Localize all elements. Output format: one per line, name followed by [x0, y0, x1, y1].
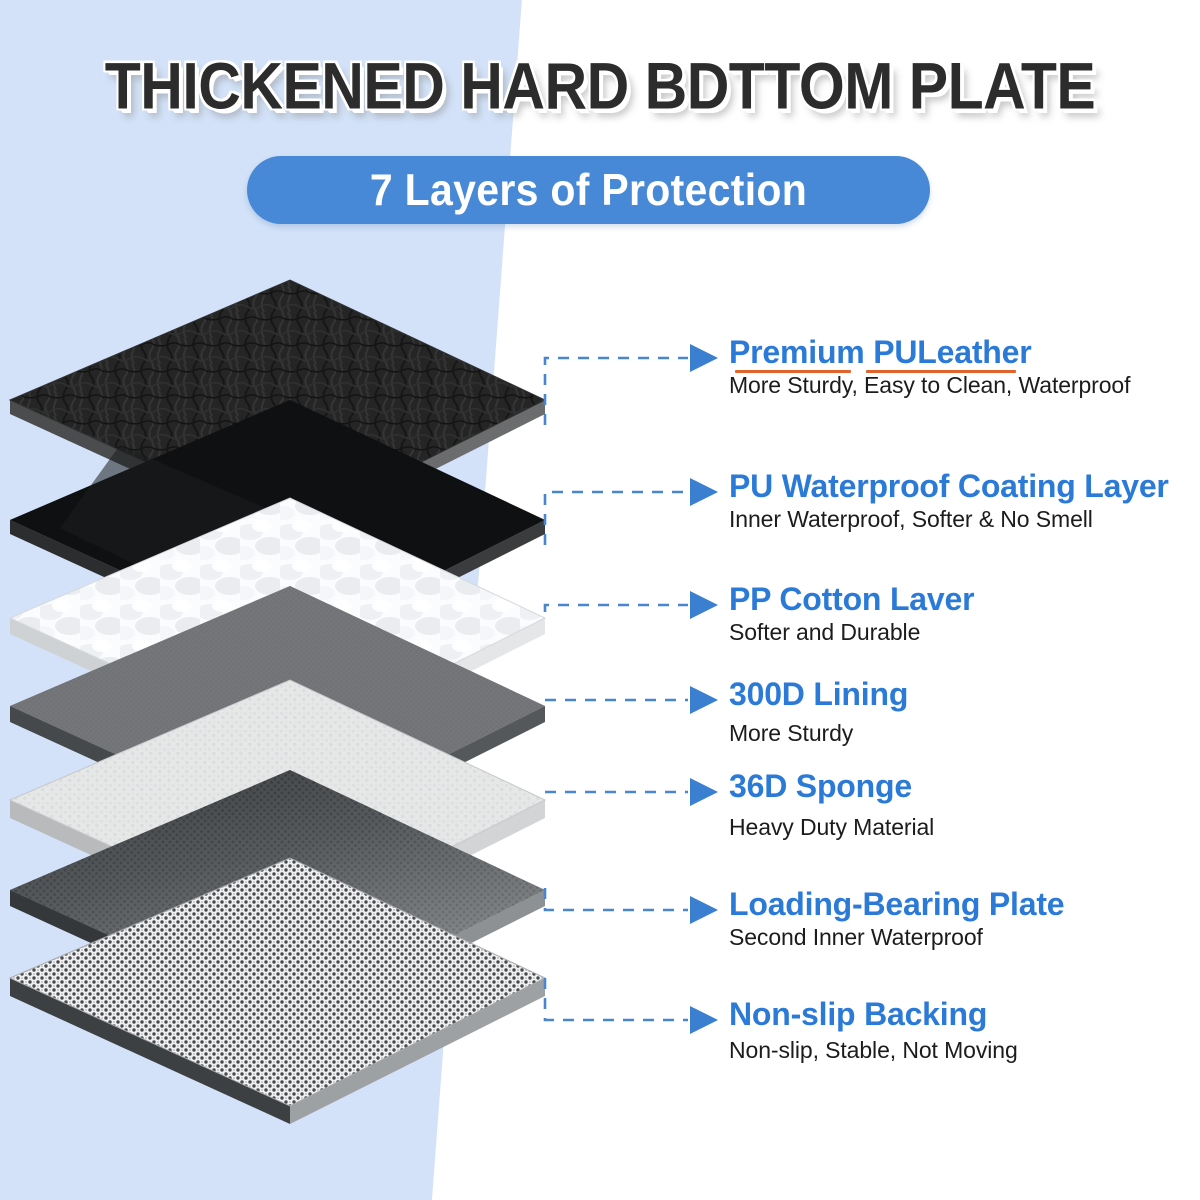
- callout-1: Premium PULeather More Sturdy, Easy to C…: [729, 336, 1130, 398]
- callout-3: PP Cotton Laver Softer and Durable: [729, 583, 974, 645]
- callout-3-subtitle: Softer and Durable: [729, 619, 974, 645]
- callout-labels: Premium PULeather More Sturdy, Easy to C…: [0, 0, 1200, 1200]
- callout-6-title: Loading-Bearing Plate: [729, 888, 1064, 922]
- callout-7: Non-slip Backing Non-slip, Stable, Not M…: [729, 998, 1018, 1063]
- callout-4-subtitle: More Sturdy: [729, 720, 908, 746]
- callout-6: Loading-Bearing Plate Second Inner Water…: [729, 888, 1064, 950]
- callout-5: 36D Sponge Heavy Duty Material: [729, 770, 934, 840]
- callout-2: PU Waterproof Coating Layer Inner Waterp…: [729, 470, 1169, 532]
- callout-5-title: 36D Sponge: [729, 770, 934, 804]
- spellcheck-underline-icon: [866, 370, 1016, 373]
- infographic-stage: THICKENED HARD BDTTOM PLATE 7 Layers of …: [0, 0, 1200, 1200]
- callout-4-title: 300D Lining: [729, 678, 908, 712]
- callout-5-subtitle: Heavy Duty Material: [729, 814, 934, 840]
- callout-4: 300D Lining More Sturdy: [729, 678, 908, 746]
- callout-1-subtitle: More Sturdy, Easy to Clean, Waterproof: [729, 372, 1130, 398]
- callout-7-subtitle: Non-slip, Stable, Not Moving: [729, 1037, 1018, 1063]
- callout-2-subtitle: Inner Waterproof, Softer & No Smell: [729, 506, 1169, 532]
- callout-7-title: Non-slip Backing: [729, 998, 1018, 1032]
- callout-3-title: PP Cotton Laver: [729, 583, 974, 617]
- callout-2-title: PU Waterproof Coating Layer: [729, 470, 1169, 504]
- callout-6-subtitle: Second Inner Waterproof: [729, 924, 1064, 950]
- spellcheck-underline-icon: [735, 370, 851, 373]
- callout-1-title: Premium PULeather: [729, 336, 1130, 370]
